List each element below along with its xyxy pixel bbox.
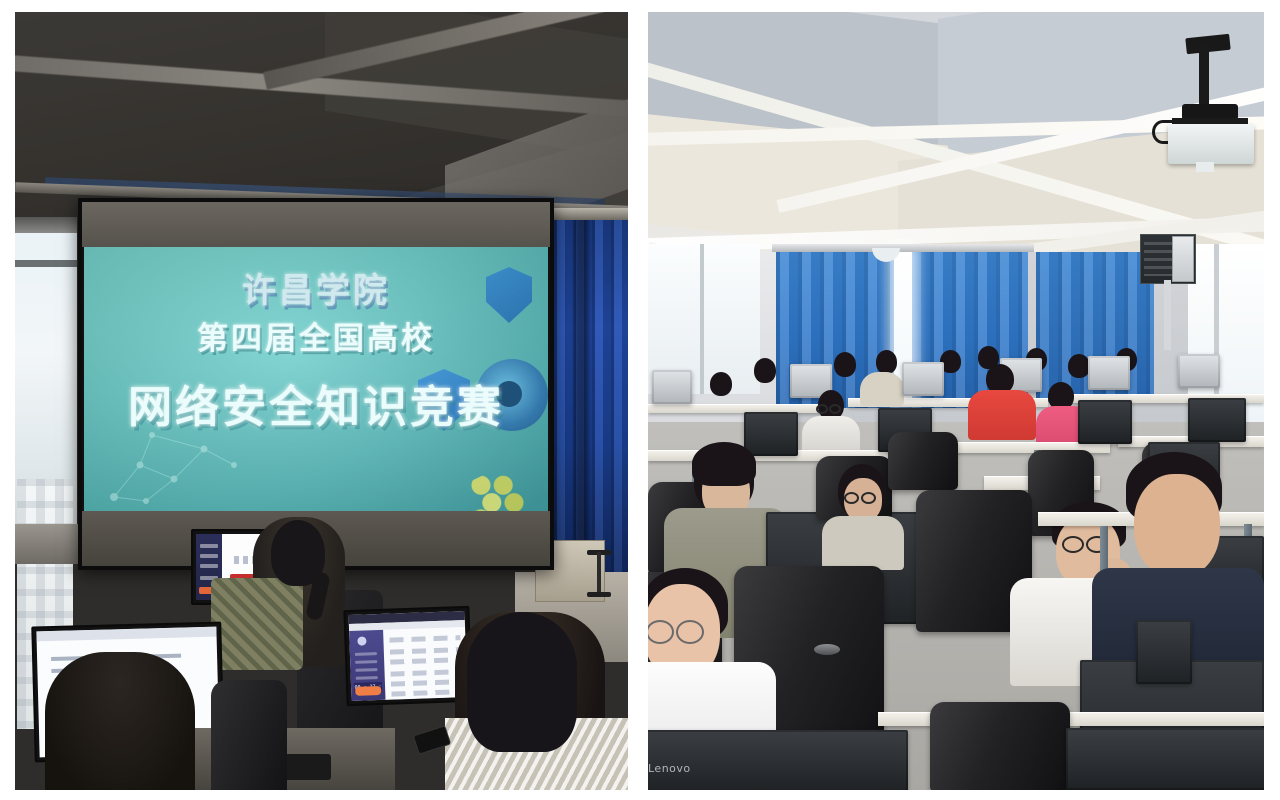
student-head [1068,354,1090,378]
pipe [597,552,601,594]
eyeglasses-icon [816,404,828,414]
pc-tower [1136,620,1192,684]
projected-slide: 许昌学院 第四届全国高校 网络安全知识竞赛 [84,247,548,511]
speaker-cabinet-door [1172,236,1194,282]
ceiling-projector [1168,124,1254,164]
curtain-fold-shadow [575,212,588,592]
avatar [357,636,366,645]
slide-title: 网络安全知识竞赛 [84,371,548,435]
pipe-fitting-bottom [587,592,611,597]
student-head [710,372,732,396]
photo-collage-page: 许昌学院 第四届全国高校 网络安全知识竞赛 48.0 [0,0,1280,800]
exam-sidebar-panel: 00 : 27 : 43 [349,630,385,701]
monitor-back [652,370,692,404]
monitor-midrow [1078,400,1132,444]
eyeglasses-icon [829,404,841,414]
student-head [754,358,776,383]
chair-brand-tag [814,644,840,655]
student-face-front-right [1134,474,1220,578]
eyeglasses-icon [861,492,876,504]
right-photo: Lenovo Lenovo Lenovo [648,12,1264,790]
eyeglasses-icon [1062,536,1084,553]
photo-gutter [628,0,648,800]
student-right-hair [467,612,577,752]
projection-screen: 许昌学院 第四届全国高校 网络安全知识竞赛 [78,198,554,570]
slide-edition-line: 第四届全国高校 [84,313,548,358]
student-hair-mid-left [692,442,756,486]
left-window-mullion [700,244,704,394]
screen-top-border [82,202,550,247]
right-exam-monitor: 00 : 27 : 43 [343,606,472,706]
monitor-back [1088,356,1130,390]
submit-exam-button[interactable] [355,686,381,696]
student-body [860,372,904,406]
monitor-midrow [1188,398,1246,442]
window-frame-mullion [15,260,77,267]
desk-row-5 [648,404,838,413]
monitor-back [1178,354,1220,388]
left-photo: 许昌学院 第四届全国高校 网络安全知识竞赛 48.0 [15,12,628,790]
speaker-grill-icon [1144,242,1172,276]
left-window [15,217,77,557]
browser-toolbar [36,627,216,642]
right-monitor-screen: 00 : 27 : 43 [349,611,468,701]
student-front [45,652,195,790]
student-head [834,352,856,377]
chair [888,432,958,490]
window-sill [15,524,81,564]
slide-university-name: 许昌学院 [84,263,548,312]
monitor-front-left [648,730,908,790]
chair-front-right [930,702,1070,790]
student-body-mid-glasses [822,516,904,570]
eyeglasses-icon [844,492,859,504]
projector-foot [1196,162,1214,172]
keyboard-front [1066,728,1264,790]
student-head [876,350,897,374]
lenovo-logo: Lenovo [648,762,691,775]
curtain-rail [772,244,1034,252]
monitor-midrow [744,412,798,456]
wall-conduit-pipe [1164,280,1171,350]
chair-right [211,680,287,790]
student-body-red-shirt [968,390,1036,440]
student-center-shirt [211,578,303,670]
eyeglasses-icon [676,620,704,644]
window-frame-top [15,217,77,233]
monitor-back [902,362,944,396]
